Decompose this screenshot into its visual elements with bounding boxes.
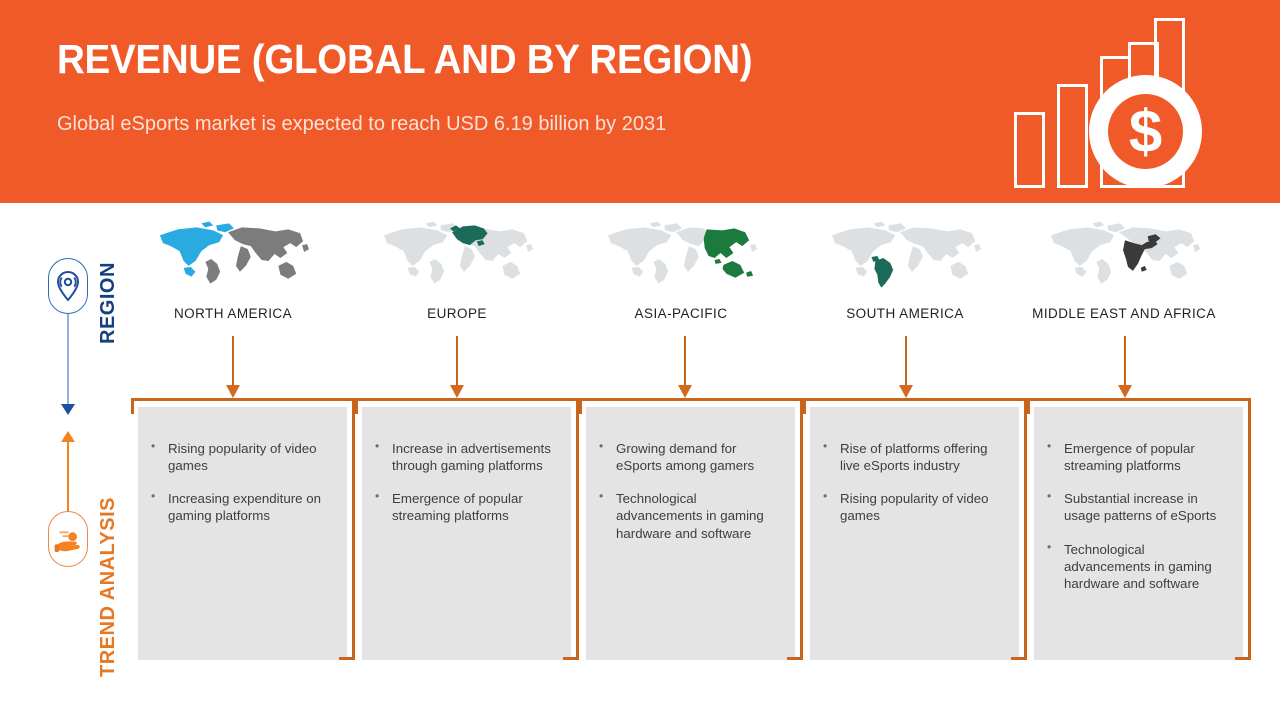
page-subtitle: Global eSports market is expected to rea…: [57, 110, 837, 139]
world-map-svg: [154, 218, 312, 294]
connector-arrow-europe: [456, 336, 458, 386]
list-item: Substantial increase in usage patterns o…: [1047, 490, 1225, 524]
list-item: Rise of platforms offering live eSports …: [823, 440, 1001, 474]
trend-list: Increase in advertisements through gamin…: [375, 440, 553, 541]
list-item: Growing demand for eSports among gamers: [599, 440, 777, 474]
chart-bar-1: [1014, 112, 1045, 188]
hand-coin-glyph: [49, 512, 87, 566]
trend-list: Rising popularity of video games Increas…: [151, 440, 329, 541]
list-item: Rising popularity of video games: [823, 490, 1001, 524]
region-column-asia-pacific[interactable]: ASIA-PACIFIC: [569, 218, 793, 321]
world-map-svg: [826, 218, 984, 294]
connector-arrow-middle-east-africa: [1124, 336, 1126, 386]
list-item: Technological advancements in gaming har…: [599, 490, 777, 541]
bracket-top-line: [1027, 398, 1251, 401]
trend-card-north-america[interactable]: Rising popularity of video games Increas…: [131, 398, 355, 660]
bracket-top-line: [131, 398, 355, 401]
world-map-svg: [1045, 218, 1203, 294]
header-banner: REVENUE (GLOBAL AND BY REGION) Global eS…: [0, 0, 1280, 203]
trend-list: Emergence of popular streaming platforms…: [1047, 440, 1225, 608]
arrow-down-icon-region: [67, 314, 69, 406]
trend-card-europe[interactable]: Increase in advertisements through gamin…: [355, 398, 579, 660]
region-column-europe[interactable]: EUROPE: [345, 218, 569, 321]
connector-arrow-asia-pacific: [684, 336, 686, 386]
world-map-north-america-highlight: [154, 218, 312, 294]
region-label: ASIA-PACIFIC: [569, 306, 793, 321]
bracket-left-stub: [131, 398, 134, 414]
world-map-middle-east-africa-highlight: [1045, 218, 1203, 294]
world-map-asia-pacific-highlight: [602, 218, 760, 294]
trend-card-middle-east-africa[interactable]: Emergence of popular streaming platforms…: [1027, 398, 1251, 660]
list-item: Increasing expenditure on gaming platfor…: [151, 490, 329, 524]
list-item: Technological advancements in gaming har…: [1047, 541, 1225, 592]
list-item: Increase in advertisements through gamin…: [375, 440, 553, 474]
list-item: Emergence of popular streaming platforms: [375, 490, 553, 524]
connector-arrow-north-america: [232, 336, 234, 386]
region-label: NORTH AMERICA: [121, 306, 345, 321]
region-column-middle-east-africa[interactable]: MIDDLE EAST AND AFRICA: [1012, 218, 1236, 321]
world-map-svg: [378, 218, 536, 294]
trend-list: Rise of platforms offering live eSports …: [823, 440, 1001, 541]
region-label: SOUTH AMERICA: [793, 306, 1017, 321]
world-map-south-america-highlight: [826, 218, 984, 294]
bracket-top-line: [579, 398, 803, 401]
trend-list: Growing demand for eSports among gamers …: [599, 440, 777, 558]
hand-holding-coin-icon: [48, 511, 88, 567]
rail-label-trend-analysis: TREND ANALYSIS: [97, 497, 120, 677]
trend-card-asia-pacific[interactable]: Growing demand for eSports among gamers …: [579, 398, 803, 660]
location-pin-signal-icon: [48, 258, 88, 314]
region-label: MIDDLE EAST AND AFRICA: [1012, 306, 1236, 321]
bracket-top-line: [355, 398, 579, 401]
bracket-top-line: [803, 398, 1027, 401]
dollar-sign-icon: $: [1108, 92, 1183, 171]
bracket-left-stub: [579, 398, 582, 414]
region-column-north-america[interactable]: NORTH AMERICA: [121, 218, 345, 321]
bracket-left-stub: [803, 398, 806, 414]
bracket-left-stub: [355, 398, 358, 414]
page-title: REVENUE (GLOBAL AND BY REGION): [57, 38, 752, 81]
list-item: Emergence of popular streaming platforms: [1047, 440, 1225, 474]
region-column-south-america[interactable]: SOUTH AMERICA: [793, 218, 1017, 321]
chart-bar-2: [1057, 84, 1088, 188]
bracket-left-stub: [1027, 398, 1030, 414]
region-label: EUROPE: [345, 306, 569, 321]
connector-arrow-south-america: [905, 336, 907, 386]
world-map-europe-highlight: [378, 218, 536, 294]
world-map-svg: [602, 218, 760, 294]
bar-chart-dollar-coin-icon: $: [1006, 18, 1206, 190]
trend-card-south-america[interactable]: Rise of platforms offering live eSports …: [803, 398, 1027, 660]
pin-glyph: [49, 259, 87, 313]
rail-label-region: REGION: [97, 262, 120, 344]
bracket-right-line: [1248, 398, 1251, 660]
arrow-up-icon-trend: [67, 442, 69, 514]
list-item: Rising popularity of video games: [151, 440, 329, 474]
